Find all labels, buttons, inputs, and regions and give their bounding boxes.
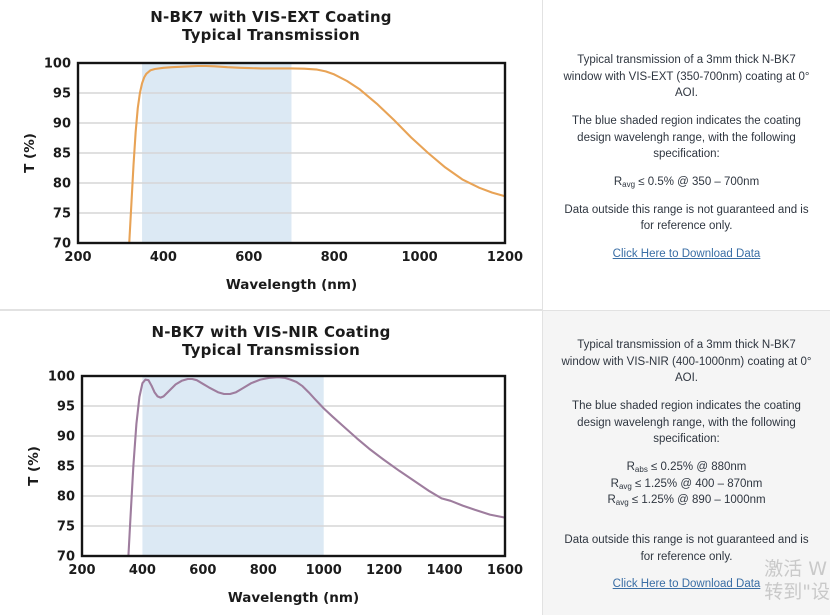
svg-text:200: 200 — [64, 250, 91, 265]
svg-text:1400: 1400 — [426, 563, 462, 578]
spec-line: Ravg ≤ 0.5% @ 350 – 700nm — [557, 174, 816, 191]
svg-text:90: 90 — [57, 430, 75, 445]
desc-paragraph-2: The blue shaded region indicates the coa… — [557, 113, 816, 163]
svg-text:1600: 1600 — [487, 563, 523, 578]
desc-paragraph-2: The blue shaded region indicates the coa… — [557, 398, 816, 448]
description-vis-nir: Typical transmission of a 3mm thick N-BK… — [543, 311, 830, 615]
download-data-link[interactable]: Click Here to Download Data — [613, 248, 761, 260]
svg-text:Wavelength (nm): Wavelength (nm) — [228, 590, 359, 606]
svg-text:600: 600 — [189, 563, 216, 578]
spec-line: Ravg ≤ 1.25% @ 400 – 870nm — [557, 476, 816, 493]
desc-paragraph-3: Data outside this range is not guarantee… — [557, 532, 816, 565]
svg-text:100: 100 — [44, 57, 71, 72]
svg-text:75: 75 — [53, 207, 71, 222]
svg-text:100: 100 — [48, 370, 75, 385]
svg-text:800: 800 — [250, 563, 277, 578]
svg-text:800: 800 — [321, 250, 348, 265]
chart-vis-ext: N-BK7 with VIS-EXT Coating Typical Trans… — [0, 0, 543, 310]
svg-text:1000: 1000 — [306, 563, 342, 578]
svg-text:80: 80 — [57, 490, 75, 505]
svg-text:95: 95 — [53, 87, 71, 102]
svg-text:80: 80 — [53, 177, 71, 192]
svg-text:1200: 1200 — [366, 563, 402, 578]
svg-text:85: 85 — [57, 460, 75, 475]
spec-list-vis-ext: Ravg ≤ 0.5% @ 350 – 700nm — [557, 174, 816, 191]
desc-paragraph-1: Typical transmission of a 3mm thick N-BK… — [557, 52, 816, 102]
svg-text:95: 95 — [57, 400, 75, 415]
panel-vis-nir: N-BK7 with VIS-NIR Coating Typical Trans… — [0, 310, 830, 615]
svg-text:T (%): T (%) — [26, 446, 42, 486]
svg-text:75: 75 — [57, 520, 75, 535]
panel-vis-ext: N-BK7 with VIS-EXT Coating Typical Trans… — [0, 0, 830, 310]
description-vis-ext: Typical transmission of a 3mm thick N-BK… — [543, 0, 830, 310]
desc-paragraph-3: Data outside this range is not guarantee… — [557, 202, 816, 235]
spec-line: Rabs ≤ 0.25% @ 880nm — [557, 459, 816, 476]
svg-text:200: 200 — [68, 563, 95, 578]
page-root: N-BK7 with VIS-EXT Coating Typical Trans… — [0, 0, 830, 614]
download-data-link[interactable]: Click Here to Download Data — [613, 578, 761, 590]
svg-text:1200: 1200 — [487, 250, 523, 265]
spec-list-vis-nir: Rabs ≤ 0.25% @ 880nmRavg ≤ 1.25% @ 400 –… — [557, 459, 816, 509]
chart-canvas-vis-nir: 7075808590951002004006008001000120014001… — [0, 311, 543, 615]
chart-vis-nir: N-BK7 with VIS-NIR Coating Typical Trans… — [0, 311, 543, 615]
svg-text:1000: 1000 — [402, 250, 438, 265]
svg-text:600: 600 — [235, 250, 262, 265]
svg-text:T (%): T (%) — [22, 133, 38, 173]
chart-canvas-vis-ext: 70758085909510020040060080010001200Wavel… — [0, 0, 543, 310]
svg-text:85: 85 — [53, 147, 71, 162]
svg-text:90: 90 — [53, 117, 71, 132]
svg-text:400: 400 — [150, 250, 177, 265]
svg-text:Wavelength (nm): Wavelength (nm) — [226, 277, 357, 293]
desc-paragraph-1: Typical transmission of a 3mm thick N-BK… — [557, 337, 816, 387]
spec-line: Ravg ≤ 1.25% @ 890 – 1000nm — [557, 492, 816, 509]
svg-text:400: 400 — [129, 563, 156, 578]
